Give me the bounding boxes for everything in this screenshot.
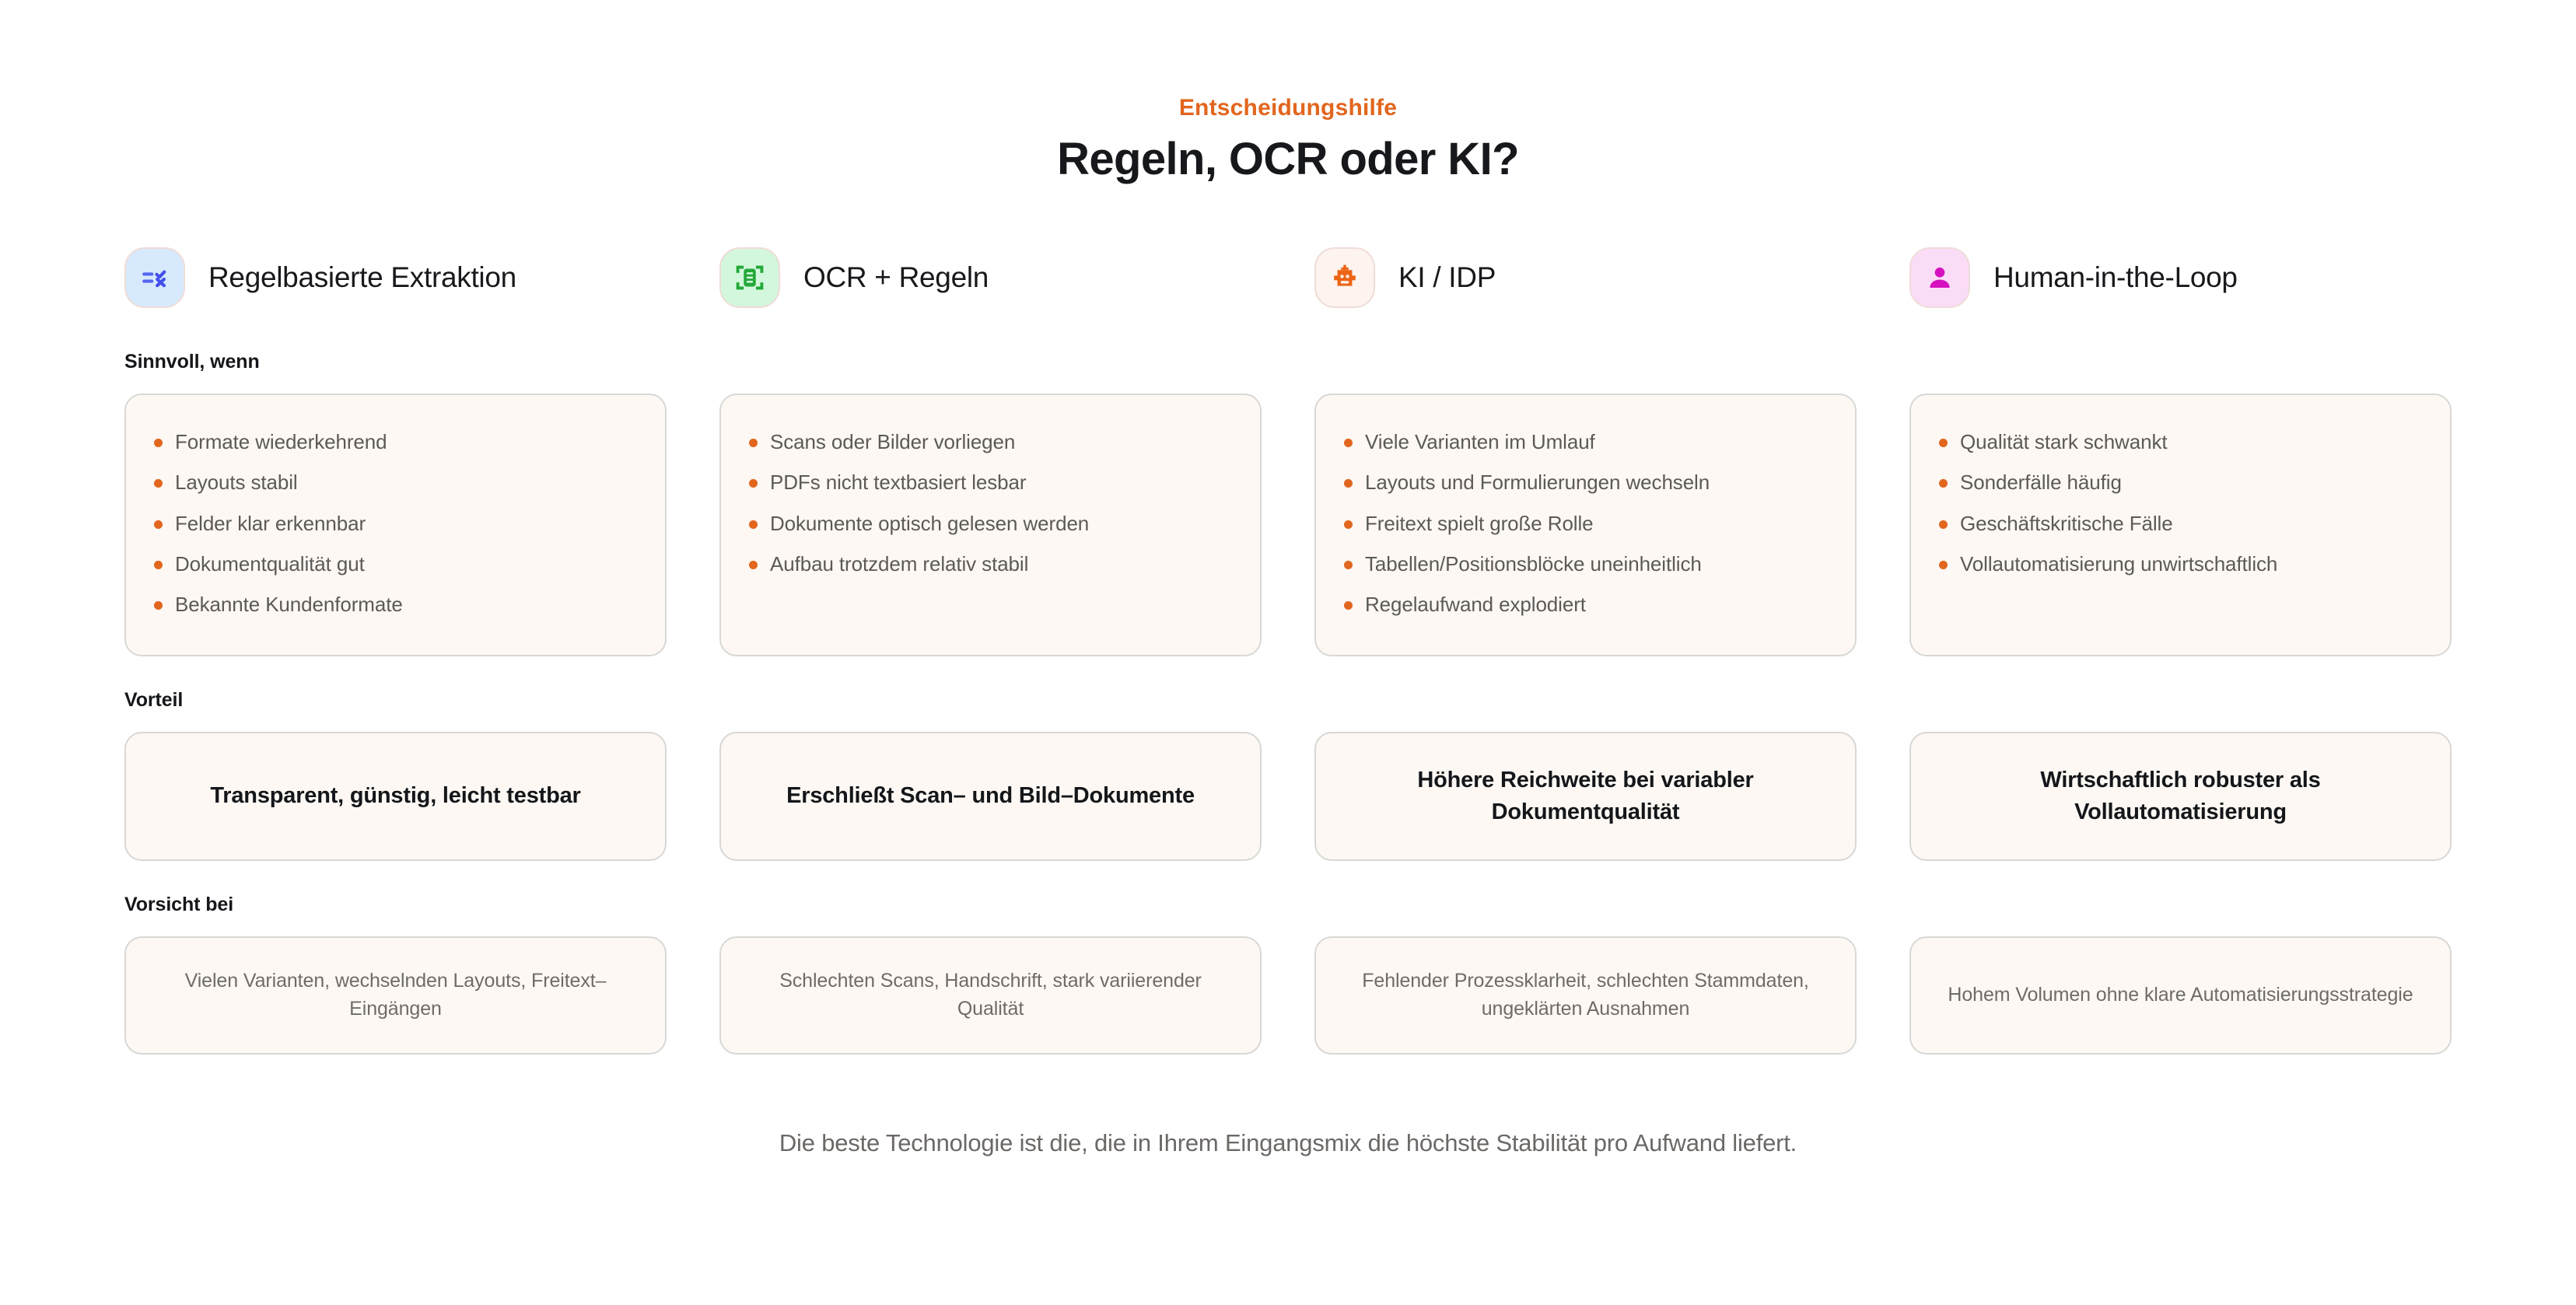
caution-label: Hohem Volumen ohne klare Automatisierung…	[1948, 981, 2413, 1009]
bullet-label: Bekannte Kundenformate	[175, 591, 403, 618]
column-headers: Regelbasierte Extraktion OCR + Regeln	[124, 247, 2452, 308]
benefit-card-ocr: Erschließt Scan– und Bild–Dokumente	[719, 732, 1262, 861]
list-item: Dokumente optisch gelesen werden	[749, 503, 1232, 544]
useful-card-rules: Formate wiederkehrend Layouts stabil Fel…	[124, 394, 667, 656]
bullet-dot-icon	[749, 439, 758, 447]
page-header: Entscheidungshilfe Regeln, OCR oder KI?	[124, 0, 2452, 185]
column-header-human: Human-in-the-Loop	[1909, 247, 2452, 308]
bullet-label: Scans oder Bilder vorliegen	[770, 429, 1015, 455]
bullet-dot-icon	[1344, 520, 1353, 529]
benefit-card-ai: Höhere Reichweite bei variabler Dokument…	[1314, 732, 1857, 861]
bullet-dot-icon	[1344, 561, 1353, 569]
useful-card-ai: Viele Varianten im Umlauf Layouts und Fo…	[1314, 394, 1857, 656]
list-item: Bekannte Kundenformate	[154, 584, 637, 625]
caution-card-rules: Vielen Varianten, wechselnden Layouts, F…	[124, 936, 667, 1055]
row-label-benefit: Vorteil	[124, 689, 2452, 712]
bullet-label: Aufbau trotzdem relativ stabil	[770, 551, 1028, 577]
list-item: Dokumentqualität gut	[154, 544, 637, 584]
bullet-label: Sonderfälle häufig	[1960, 469, 2122, 495]
caution-card-ocr: Schlechten Scans, Handschrift, stark var…	[719, 936, 1262, 1055]
infographic-page: Entscheidungshilfe Regeln, OCR oder KI? …	[0, 0, 2576, 1305]
bullet-label: PDFs nicht textbasiert lesbar	[770, 469, 1026, 495]
list-item: Formate wiederkehrend	[154, 422, 637, 462]
useful-card-human: Qualität stark schwankt Sonderfälle häuf…	[1909, 394, 2452, 656]
bullet-label: Formate wiederkehrend	[175, 429, 387, 455]
row-useful-cards: Formate wiederkehrend Layouts stabil Fel…	[124, 394, 2452, 656]
list-item: Felder klar erkennbar	[154, 503, 637, 544]
bullet-label: Tabellen/Positionsblöcke uneinheitlich	[1365, 551, 1702, 577]
caution-card-ai: Fehlender Prozessklarheit, schlechten St…	[1314, 936, 1857, 1055]
footer-note: Die beste Technologie ist die, die in Ih…	[124, 1129, 2452, 1157]
bullet-dot-icon	[749, 520, 758, 529]
benefit-label: Höhere Reichweite bei variabler Dokument…	[1347, 764, 1824, 828]
bullet-label: Vollautomatisierung unwirtschaftlich	[1960, 551, 2277, 577]
bullet-label: Felder klar erkennbar	[175, 510, 366, 537]
list-item: Vollautomatisierung unwirtschaftlich	[1939, 544, 2422, 584]
bullet-label: Viele Varianten im Umlauf	[1365, 429, 1595, 455]
row-label-useful: Sinnvoll, wenn	[124, 351, 2452, 373]
bullet-label: Geschäftskritische Fälle	[1960, 510, 2173, 537]
bullet-label: Regelaufwand explodiert	[1365, 591, 1586, 618]
column-title: OCR + Regeln	[803, 261, 989, 294]
list-item: Viele Varianten im Umlauf	[1344, 422, 1827, 462]
person-icon	[1909, 247, 1970, 308]
caution-label: Vielen Varianten, wechselnden Layouts, F…	[156, 967, 635, 1023]
bullet-dot-icon	[749, 479, 758, 488]
list-item: Qualität stark schwankt	[1939, 422, 2422, 462]
column-title: KI / IDP	[1398, 261, 1496, 294]
column-title: Human-in-the-Loop	[1993, 261, 2238, 294]
bullet-dot-icon	[1939, 520, 1948, 529]
bullet-dot-icon	[1344, 601, 1353, 610]
list-item: Scans oder Bilder vorliegen	[749, 422, 1232, 462]
page-title: Regeln, OCR oder KI?	[124, 135, 2452, 185]
column-title: Regelbasierte Extraktion	[208, 261, 516, 294]
list-item: Sonderfälle häufig	[1939, 462, 2422, 502]
list-item: Aufbau trotzdem relativ stabil	[749, 544, 1232, 584]
bullet-label: Dokumentqualität gut	[175, 551, 365, 577]
robot-icon	[1314, 247, 1375, 308]
bullet-dot-icon	[1939, 561, 1948, 569]
benefit-label: Wirtschaftlich robuster als Vollautomati…	[1942, 764, 2419, 828]
list-item: Geschäftskritische Fälle	[1939, 503, 2422, 544]
bullet-dot-icon	[749, 561, 758, 569]
bullet-label: Freitext spielt große Rolle	[1365, 510, 1594, 537]
bullet-dot-icon	[154, 479, 163, 488]
bullet-label: Layouts stabil	[175, 469, 298, 495]
bullet-dot-icon	[154, 520, 163, 529]
bullet-dot-icon	[1344, 439, 1353, 447]
benefit-card-rules: Transparent, günstig, leicht testbar	[124, 732, 667, 861]
row-label-caution: Vorsicht bei	[124, 894, 2452, 916]
bullet-dot-icon	[154, 439, 163, 447]
list-item: PDFs nicht textbasiert lesbar	[749, 462, 1232, 502]
row-benefit-cards: Transparent, günstig, leicht testbar Ers…	[124, 732, 2452, 861]
column-header-ocr: OCR + Regeln	[719, 247, 1262, 308]
bullet-dot-icon	[1939, 439, 1948, 447]
eyebrow-label: Entscheidungshilfe	[124, 95, 2452, 121]
bullet-dot-icon	[1939, 479, 1948, 488]
list-item: Freitext spielt große Rolle	[1344, 503, 1827, 544]
column-header-rules: Regelbasierte Extraktion	[124, 247, 667, 308]
caution-label: Fehlender Prozessklarheit, schlechten St…	[1346, 967, 1825, 1023]
useful-card-ocr: Scans oder Bilder vorliegen PDFs nicht t…	[719, 394, 1262, 656]
list-item: Layouts und Formulierungen wechseln	[1344, 462, 1827, 502]
caution-label: Schlechten Scans, Handschrift, stark var…	[751, 967, 1230, 1023]
caution-card-human: Hohem Volumen ohne klare Automatisierung…	[1909, 936, 2452, 1055]
row-caution-cards: Vielen Varianten, wechselnden Layouts, F…	[124, 936, 2452, 1055]
bullet-label: Qualität stark schwankt	[1960, 429, 2167, 455]
benefit-label: Erschließt Scan– und Bild–Dokumente	[786, 780, 1195, 812]
rules-checklist-icon	[124, 247, 185, 308]
column-header-ai: KI / IDP	[1314, 247, 1857, 308]
bullet-label: Layouts und Formulierungen wechseln	[1365, 469, 1710, 495]
bullet-dot-icon	[154, 561, 163, 569]
bullet-label: Dokumente optisch gelesen werden	[770, 510, 1089, 537]
benefit-card-human: Wirtschaftlich robuster als Vollautomati…	[1909, 732, 2452, 861]
benefit-label: Transparent, günstig, leicht testbar	[210, 780, 580, 812]
bullet-dot-icon	[154, 601, 163, 610]
document-scan-icon	[719, 247, 780, 308]
list-item: Tabellen/Positionsblöcke uneinheitlich	[1344, 544, 1827, 584]
bullet-dot-icon	[1344, 479, 1353, 488]
list-item: Layouts stabil	[154, 462, 637, 502]
list-item: Regelaufwand explodiert	[1344, 584, 1827, 625]
